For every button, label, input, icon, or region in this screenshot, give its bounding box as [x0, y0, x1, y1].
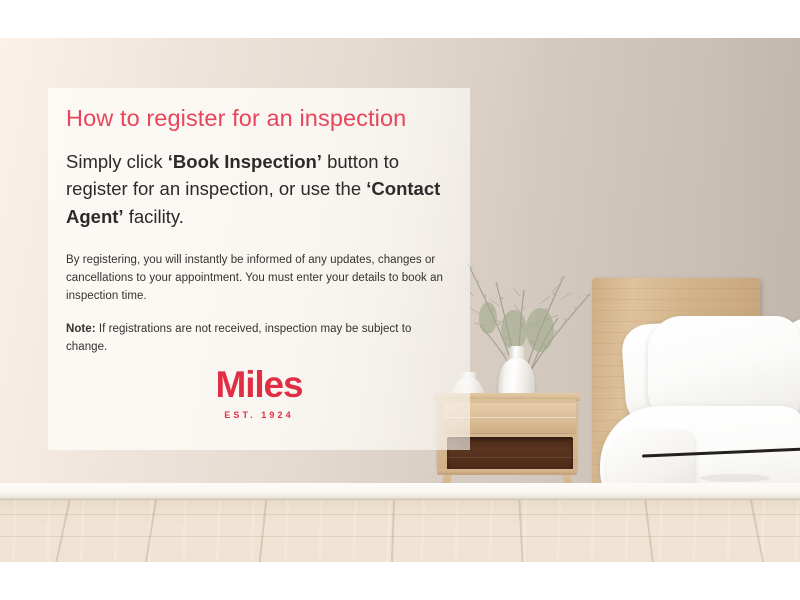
card-title: How to register for an inspection	[66, 104, 446, 132]
card-paragraph-registering: By registering, you will instantly be in…	[66, 252, 446, 306]
note-label: Note:	[66, 323, 96, 335]
duvet-crease	[700, 474, 770, 482]
note-text: If registrations are not received, inspe…	[66, 323, 411, 353]
floor-grain	[0, 500, 800, 562]
logo-established-text: EST. 1924	[48, 410, 470, 420]
screenshot-canvas: How to register for an inspection Simply…	[0, 0, 800, 600]
floor-plank-seam	[0, 536, 800, 537]
letterbox-top	[0, 0, 800, 38]
bed	[592, 278, 800, 508]
shelf-grain-line	[447, 457, 573, 458]
logo-wordmark: Miles	[48, 366, 470, 403]
miles-logo: Miles EST. 1924	[48, 366, 470, 420]
floor-plank-seam	[0, 514, 800, 515]
info-card: How to register for an inspection Simply…	[48, 88, 470, 450]
nightstand-base	[437, 469, 577, 475]
wood-floor	[0, 500, 800, 562]
lead-part-1: Simply click	[66, 151, 168, 172]
lead-part-3: facility.	[124, 206, 184, 227]
card-lead-paragraph: Simply click ‘Book Inspection’ button to…	[66, 148, 446, 230]
lead-bold-book-inspection: ‘Book Inspection’	[168, 151, 322, 172]
card-paragraph-note: Note: If registrations are not received,…	[66, 321, 446, 357]
skirting-board	[0, 483, 800, 500]
letterbox-bottom	[0, 562, 800, 600]
